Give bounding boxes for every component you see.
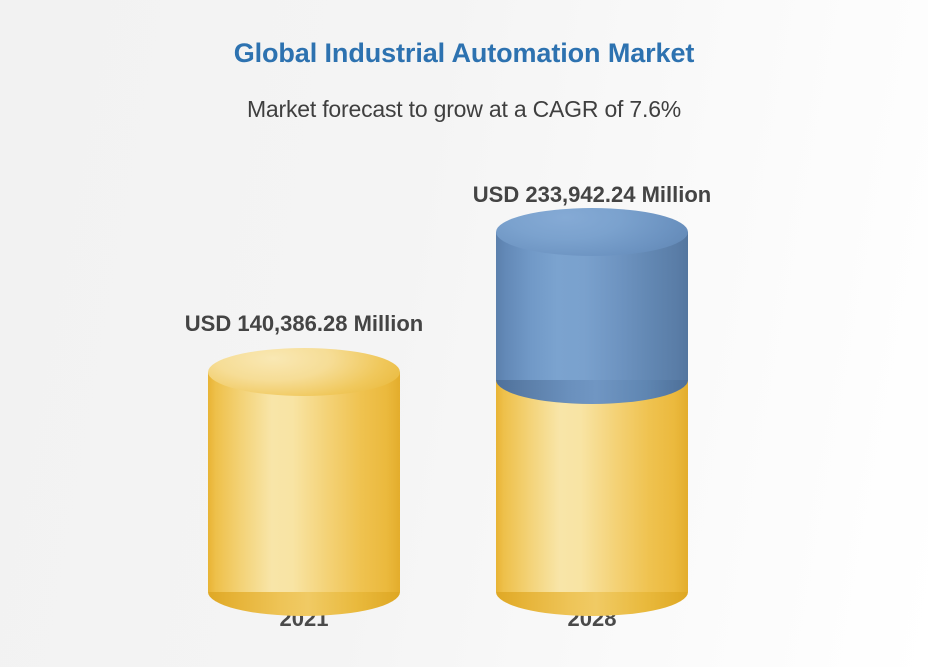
cylinder-body-2028-gold xyxy=(496,380,688,592)
bar-2021[interactable] xyxy=(208,348,400,592)
value-label-2028: USD 233,942.24 Million xyxy=(422,182,762,208)
cylinder-top-2021 xyxy=(208,348,400,396)
bar-segment-2021-base xyxy=(208,348,400,592)
chart-title: Global Industrial Automation Market xyxy=(0,38,928,69)
chart-subtitle: Market forecast to grow at a CAGR of 7.6… xyxy=(0,96,928,123)
chart-root: Global Industrial Automation Market Mark… xyxy=(0,0,928,667)
value-label-2021: USD 140,386.28 Million xyxy=(134,311,474,337)
bar-segment-2028-growth xyxy=(496,208,688,380)
cylinder-body-2021 xyxy=(208,372,400,592)
cylinder-top-2028-blue xyxy=(496,208,688,256)
bar-2028[interactable] xyxy=(496,208,688,592)
